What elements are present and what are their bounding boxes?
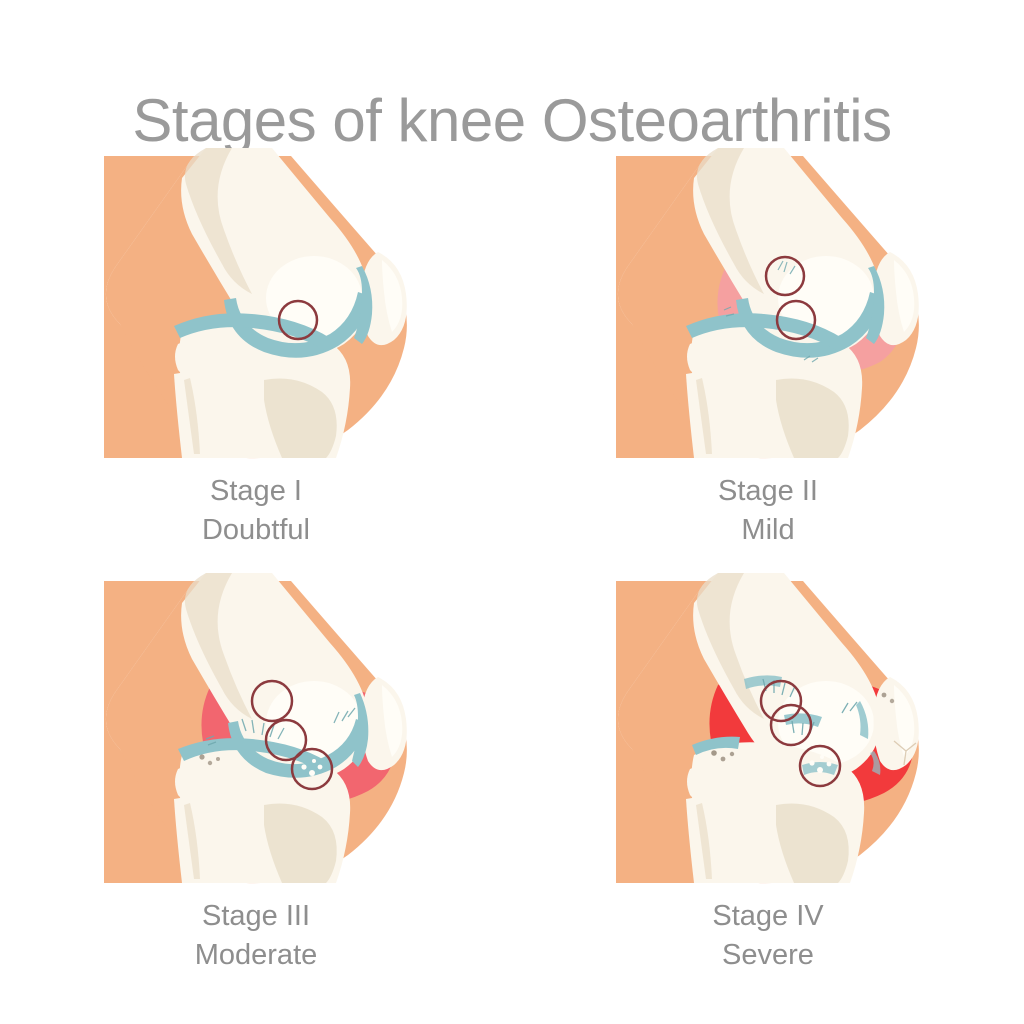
stage-roman-2: Stage II (718, 472, 818, 511)
page-title: Stages of knee Osteoarthritis (0, 88, 1024, 154)
knee-diagram-stage-4 (598, 573, 938, 891)
stage-roman-3: Stage III (195, 897, 318, 936)
stage-grid: Stage I Doubtful (0, 148, 1024, 1008)
stage-severity-1: Doubtful (202, 511, 310, 550)
patella-bone (874, 677, 919, 770)
stage-severity-4: Severe (712, 936, 823, 975)
stage-caption-2: Stage II Mild (718, 472, 818, 549)
stage-caption-3: Stage III Moderate (195, 897, 318, 974)
stage-roman-1: Stage I (202, 472, 310, 511)
stage-card-4[interactable]: Stage IV Severe (512, 573, 1024, 998)
stage-severity-2: Mild (718, 511, 818, 550)
knee-diagram-stage-1 (86, 148, 426, 466)
osteoarthritis-infographic: Stages of knee Osteoarthritis (0, 0, 1024, 1024)
knee-diagram-stage-2 (598, 148, 938, 466)
stage-card-2[interactable]: Stage II Mild (512, 148, 1024, 573)
stage-roman-4: Stage IV (712, 897, 823, 936)
stage-card-3[interactable]: Stage III Moderate (0, 573, 512, 998)
stage-caption-1: Stage I Doubtful (202, 472, 310, 549)
stage-caption-4: Stage IV Severe (712, 897, 823, 974)
knee-diagram-stage-3 (86, 573, 426, 891)
patella-bone (362, 677, 407, 770)
stage-card-1[interactable]: Stage I Doubtful (0, 148, 512, 573)
stage-severity-3: Moderate (195, 936, 318, 975)
tibia-bone (691, 742, 864, 883)
